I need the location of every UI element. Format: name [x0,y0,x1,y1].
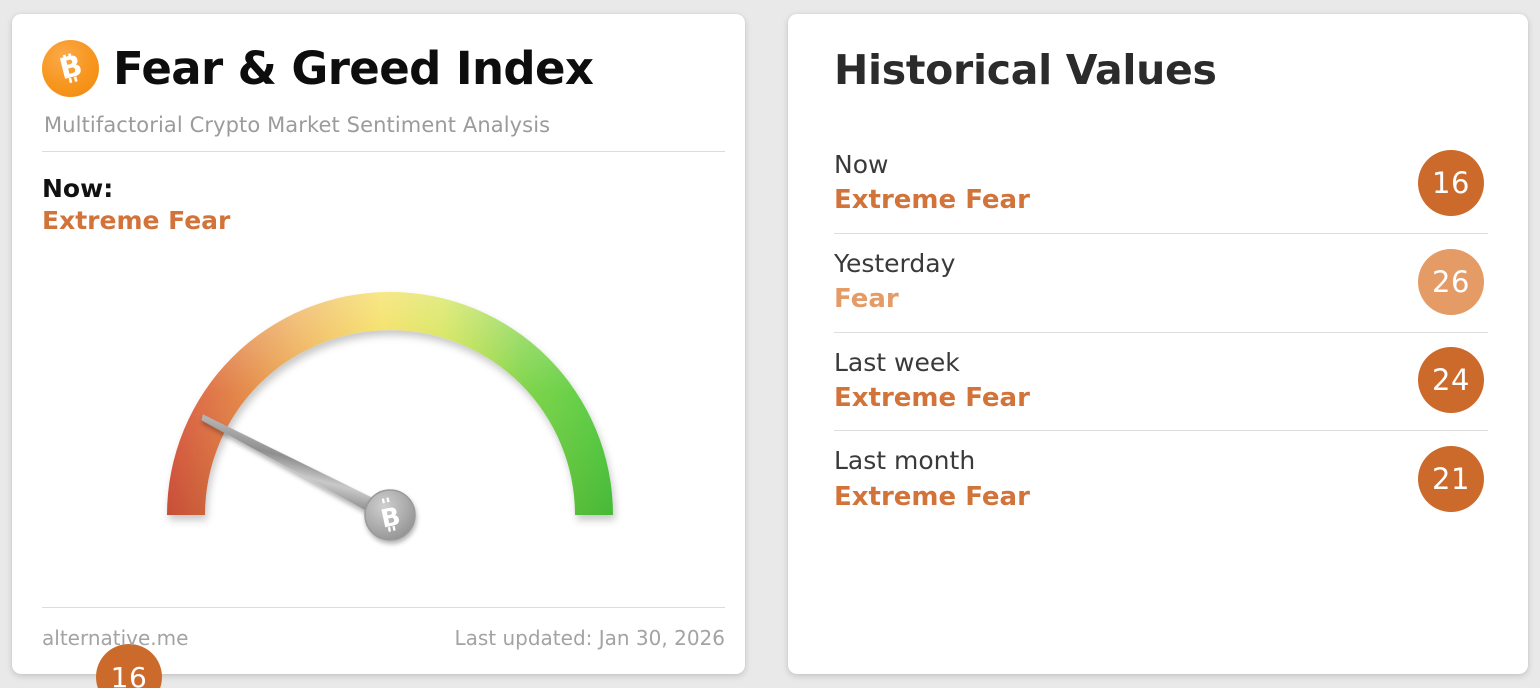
gauge-needle-hub: B [365,490,415,540]
history-row-value-badge: 24 [1418,347,1484,413]
current-reading: Now: Extreme Fear [32,174,725,235]
footer-divider [42,607,725,608]
historical-values-title: Historical Values [834,50,1488,91]
history-row-texts: YesterdayFear [834,248,955,316]
fear-greed-gauge-card: B Fear & Greed Index Multifactorial Cryp… [12,14,745,674]
history-row-value-badge: 16 [1418,150,1484,216]
current-reading-value: Extreme Fear [42,206,725,236]
history-row-texts: Last weekExtreme Fear [834,347,1030,415]
history-row: YesterdayFear26 [834,233,1488,332]
gauge-svg: B [32,254,725,614]
history-row-classification: Fear [834,283,955,316]
gauge-chart: B 16 [32,254,725,614]
gauge-arc [167,292,613,515]
historical-values-content: Historical Values NowExtreme Fear16Yeste… [834,50,1488,650]
history-row: Last weekExtreme Fear24 [834,332,1488,431]
history-row-value-badge: 26 [1418,249,1484,315]
bitcoin-icon: B [42,40,99,97]
gauge-value-badge: 16 [96,644,162,688]
fear-greed-dashboard: B Fear & Greed Index Multifactorial Cryp… [0,0,1540,688]
gauge-card-content: B Fear & Greed Index Multifactorial Cryp… [32,32,725,658]
history-row-period: Yesterday [834,248,955,279]
header-divider [42,151,725,152]
history-row-period: Now [834,149,1030,180]
historical-values-card: Historical Values NowExtreme Fear16Yeste… [788,14,1528,674]
history-row-texts: NowExtreme Fear [834,149,1030,217]
history-row-classification: Extreme Fear [834,382,1030,415]
card-header: B Fear & Greed Index [32,32,725,104]
current-reading-label: Now: [42,174,725,204]
last-updated-text: Last updated: Jan 30, 2026 [454,626,725,650]
card-footer: alternative.me Last updated: Jan 30, 202… [42,607,725,650]
historical-values-list: NowExtreme Fear16YesterdayFear26Last wee… [834,135,1488,529]
source-link[interactable]: alternative.me [42,626,188,650]
history-row-period: Last month [834,445,1030,476]
history-row-classification: Extreme Fear [834,481,1030,514]
history-row-period: Last week [834,347,1030,378]
page-title: Fear & Greed Index [113,46,593,91]
history-row: NowExtreme Fear16 [834,135,1488,233]
history-row: Last monthExtreme Fear21 [834,430,1488,529]
history-row-classification: Extreme Fear [834,184,1030,217]
page-subtitle: Multifactorial Crypto Market Sentiment A… [32,113,725,137]
gauge-value-badge-label: 16 [111,661,148,688]
history-row-value-badge: 21 [1418,446,1484,512]
history-row-texts: Last monthExtreme Fear [834,445,1030,513]
